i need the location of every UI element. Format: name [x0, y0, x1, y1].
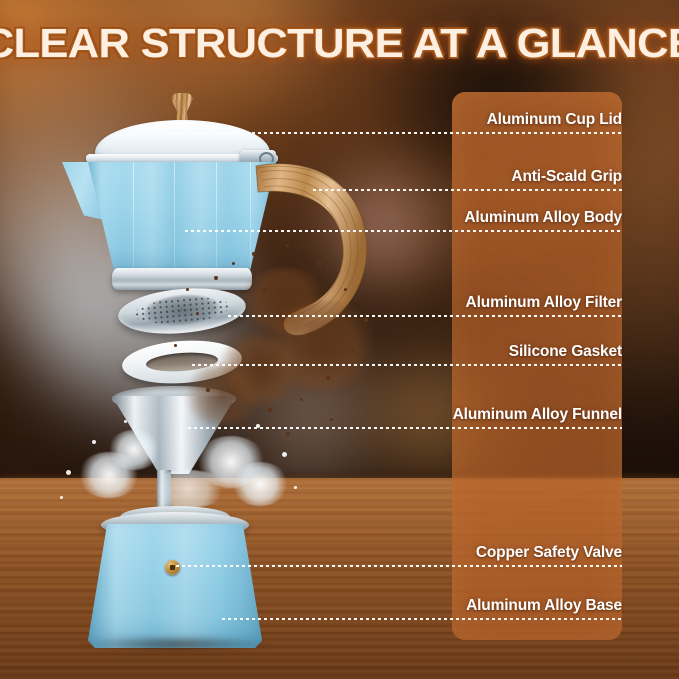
aluminum-alloy-base	[88, 524, 262, 648]
filter-perforations	[133, 294, 231, 327]
anti-scald-grip	[252, 150, 392, 350]
callout-label: Anti-Scald Grip	[511, 168, 622, 186]
body-facet-line	[250, 162, 251, 272]
body-facet-line	[174, 162, 175, 272]
aluminum-alloy-filter	[116, 284, 247, 339]
moka-pot-illustration	[0, 0, 452, 679]
callout-leader-line	[176, 565, 622, 567]
callout-leader-line	[222, 618, 622, 620]
aluminum-alloy-body	[88, 162, 276, 272]
infographic-canvas: CLEAR STRUCTURE AT A GLANCE	[0, 0, 679, 679]
body-facet-line	[133, 162, 134, 272]
callout-label: Silicone Gasket	[509, 343, 622, 361]
callout-label: Aluminum Alloy Base	[466, 597, 622, 615]
callout-leader-line	[188, 427, 622, 429]
upper-chamber-ring	[112, 268, 252, 290]
copper-safety-valve	[165, 560, 180, 575]
aluminum-alloy-funnel	[112, 396, 236, 474]
callout-leader-line	[168, 132, 622, 134]
body-facet-line	[216, 162, 217, 272]
callout-leader-line	[313, 189, 622, 191]
callout-label: Copper Safety Valve	[476, 544, 622, 562]
callout-label: Aluminum Alloy Body	[464, 209, 622, 227]
callout-label: Aluminum Alloy Funnel	[453, 406, 622, 424]
silicone-gasket	[121, 337, 244, 387]
callout-leader-line	[228, 315, 622, 317]
base-drop-shadow	[84, 636, 268, 652]
callout-label: Aluminum Alloy Filter	[466, 294, 622, 312]
callout-leader-line	[185, 230, 622, 232]
callout-label: Aluminum Cup Lid	[487, 111, 622, 129]
callout-leader-line	[192, 364, 622, 366]
